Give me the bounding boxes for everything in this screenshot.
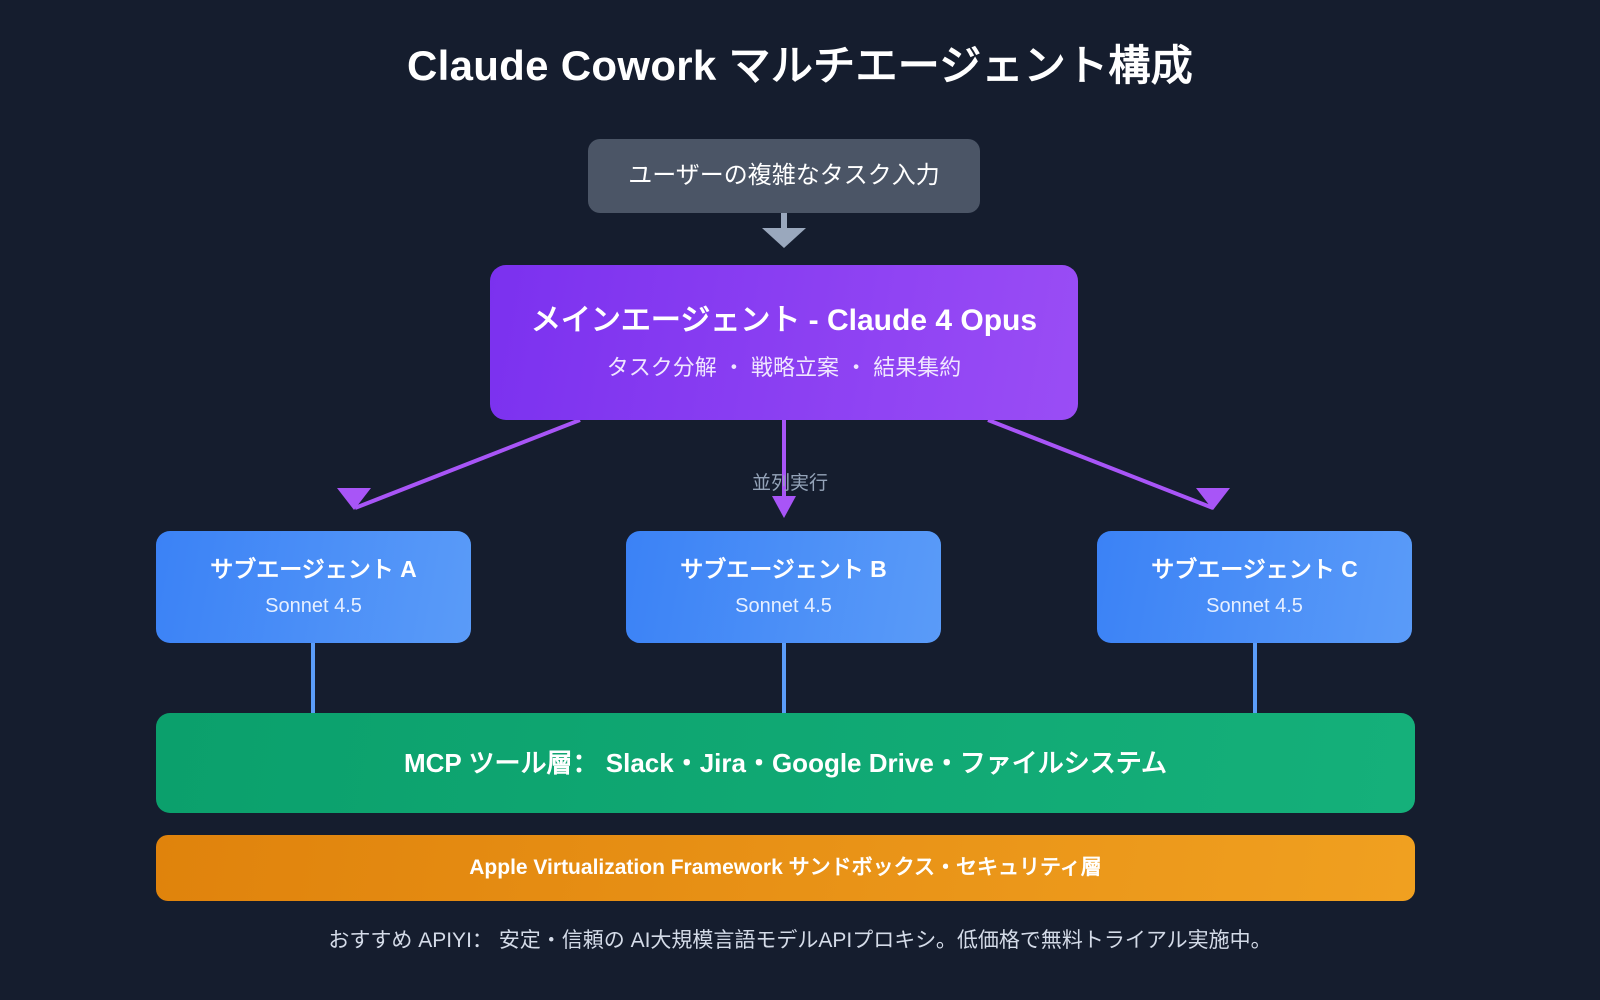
- node-security-layer[interactable]: Apple Virtualization Framework サンドボックス・セ…: [156, 835, 1415, 901]
- node-subagent-c-label: サブエージェント C: [1151, 555, 1358, 584]
- node-subagent-a-model: Sonnet 4.5: [265, 593, 362, 619]
- node-user-input-label: ユーザーの複雑なタスク入力: [628, 161, 940, 191]
- node-subagent-b[interactable]: サブエージェント B Sonnet 4.5: [626, 531, 941, 643]
- diagram-canvas: Claude Cowork マルチエージェント構成 並列実行 ユーザーの: [0, 0, 1600, 1000]
- node-subagent-c-model: Sonnet 4.5: [1206, 593, 1303, 619]
- parallel-execution-label: 並列実行: [700, 468, 880, 495]
- edge-input-to-main: [762, 213, 806, 248]
- node-subagent-a[interactable]: サブエージェント A Sonnet 4.5: [156, 531, 471, 643]
- node-subagent-b-model: Sonnet 4.5: [735, 593, 832, 619]
- node-main-agent[interactable]: メインエージェント - Claude 4 Opus タスク分解 ・ 戦略立案 ・…: [490, 265, 1078, 420]
- node-subagent-a-label: サブエージェント A: [210, 555, 417, 584]
- node-main-agent-label: メインエージェント - Claude 4 Opus: [531, 302, 1037, 340]
- node-main-agent-subtitle: タスク分解 ・ 戦略立案 ・ 結果集約: [607, 354, 961, 383]
- node-user-input[interactable]: ユーザーの複雑なタスク入力: [588, 139, 980, 213]
- edge-main-to-subagent-c: [988, 420, 1230, 510]
- node-security-layer-label: Apple Virtualization Framework サンドボックス・セ…: [469, 855, 1101, 881]
- node-mcp-tool-layer-label: MCP ツール層： Slack・Jira・Google Drive・ファイルシス…: [404, 747, 1167, 780]
- node-mcp-tool-layer[interactable]: MCP ツール層： Slack・Jira・Google Drive・ファイルシス…: [156, 713, 1415, 813]
- edge-main-to-subagent-a: [337, 420, 580, 510]
- footer-note: おすすめ APIYI： 安定・信頼の AI大規模言語モデルAPIプロキシ。低価格…: [0, 924, 1600, 954]
- node-subagent-c[interactable]: サブエージェント C Sonnet 4.5: [1097, 531, 1412, 643]
- node-subagent-b-label: サブエージェント B: [680, 555, 887, 584]
